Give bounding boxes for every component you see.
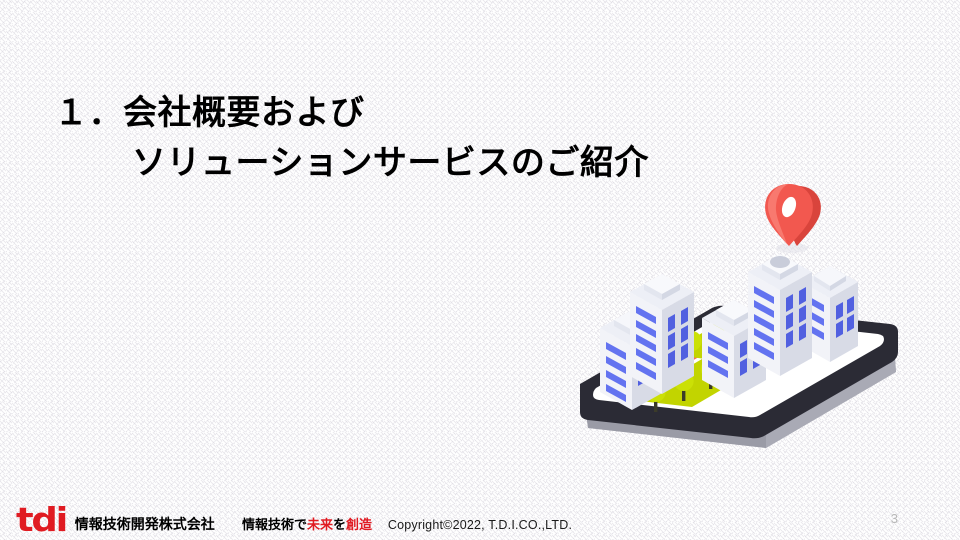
building-tallest bbox=[748, 254, 812, 376]
building-left-tall bbox=[630, 274, 694, 394]
copyright-text: Copyright©2022, T.D.I.CO.,LTD. bbox=[0, 518, 960, 532]
isometric-city-illustration bbox=[566, 176, 926, 466]
slide-canvas: １．会社概要および ソリューションサービスのご紹介 bbox=[0, 0, 960, 540]
rooftop-dome bbox=[770, 256, 790, 268]
isometric-city-svg bbox=[566, 176, 926, 466]
page-number: 3 bbox=[891, 511, 898, 526]
title-line-1: １．会社概要および bbox=[54, 88, 774, 138]
pin-shadow bbox=[776, 243, 808, 253]
slide-footer: tdi 情報技術開発株式会社 情報技術で未来を創造 Copyright©2022… bbox=[0, 488, 960, 540]
map-pin-icon bbox=[765, 184, 821, 253]
page-title: １．会社概要および ソリューションサービスのご紹介 bbox=[54, 88, 774, 188]
